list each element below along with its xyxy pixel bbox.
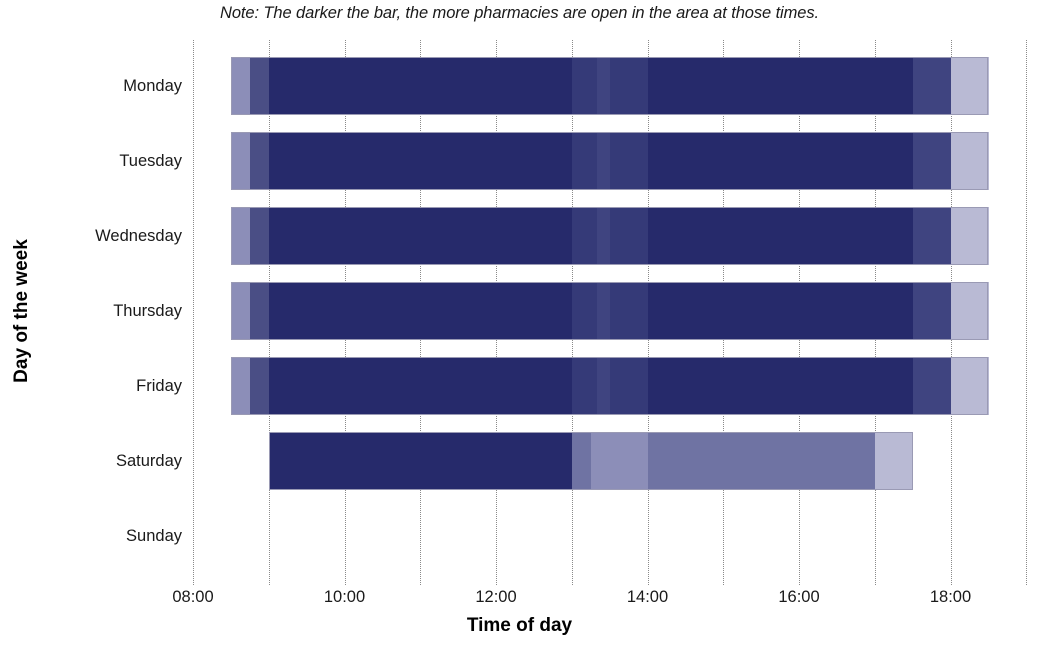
bar-segment <box>231 357 251 415</box>
bar-saturday <box>0 432 1039 490</box>
bar-segment <box>269 432 573 490</box>
bar-segment <box>597 132 610 190</box>
bar-segment <box>648 432 876 490</box>
bar-segment <box>231 132 251 190</box>
bar-segment <box>951 207 989 265</box>
bar-segment <box>572 132 598 190</box>
bar-segment <box>231 57 251 115</box>
bar-segment <box>951 132 989 190</box>
bar-segment <box>648 282 914 340</box>
bar-segment <box>250 282 270 340</box>
bar-segment <box>572 432 592 490</box>
bar-segment <box>250 57 270 115</box>
bar-segment <box>913 57 951 115</box>
bar-tuesday <box>0 132 1039 190</box>
x-axis-tick-1200: 12:00 <box>436 588 556 607</box>
bar-segment <box>648 357 914 415</box>
bar-segment <box>572 57 598 115</box>
bar-segment <box>610 57 648 115</box>
bar-monday <box>0 57 1039 115</box>
bar-segment <box>610 357 648 415</box>
bar-segment <box>610 282 648 340</box>
bar-segment <box>913 132 951 190</box>
bar-thursday <box>0 282 1039 340</box>
bar-segment <box>250 207 270 265</box>
bar-segment <box>648 132 914 190</box>
bar-segment <box>648 57 914 115</box>
bar-segment <box>269 57 573 115</box>
x-axis-tick-1000: 10:00 <box>285 588 405 607</box>
bar-segment <box>572 357 598 415</box>
bar-segment <box>610 207 648 265</box>
bar-segment <box>648 207 914 265</box>
bar-wednesday <box>0 207 1039 265</box>
bar-segment <box>231 207 251 265</box>
x-axis-tick-0800: 08:00 <box>133 588 253 607</box>
bar-segment <box>610 132 648 190</box>
bar-segment <box>875 432 913 490</box>
bar-segment <box>913 207 951 265</box>
bar-segment <box>572 282 598 340</box>
bar-segment <box>913 357 951 415</box>
x-axis-tick-1600: 16:00 <box>739 588 859 607</box>
bar-segment <box>269 282 573 340</box>
bar-segment <box>572 207 598 265</box>
bar-segment <box>597 357 610 415</box>
bar-segment <box>269 207 573 265</box>
bar-segment <box>231 282 251 340</box>
x-axis-tick-1800: 18:00 <box>891 588 1011 607</box>
bar-segment <box>597 282 610 340</box>
y-axis-tick-sunday: Sunday <box>0 526 182 546</box>
bar-segment <box>597 207 610 265</box>
bar-segment <box>951 282 989 340</box>
bar-segment <box>250 132 270 190</box>
bar-segment <box>913 282 951 340</box>
bar-segment <box>951 57 989 115</box>
bar-segment <box>597 57 610 115</box>
x-axis-tick-1400: 14:00 <box>588 588 708 607</box>
plot-area: MondayTuesdayWednesdayThursdayFridaySatu… <box>0 0 1039 648</box>
bar-segment <box>591 432 648 490</box>
bar-segment <box>250 357 270 415</box>
bar-friday <box>0 357 1039 415</box>
chart-canvas: Note: The darker the bar, the more pharm… <box>0 0 1039 648</box>
bar-segment <box>269 132 573 190</box>
bar-segment <box>269 357 573 415</box>
bar-segment <box>951 357 989 415</box>
